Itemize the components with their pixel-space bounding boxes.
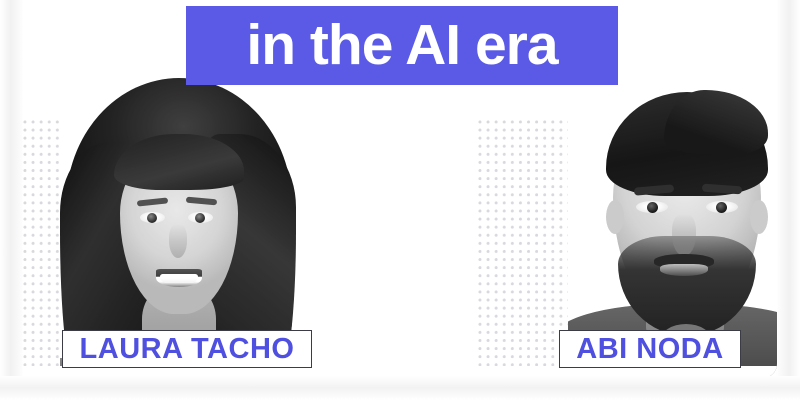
headline-text: in the AI era [246,17,557,74]
iris-right [195,213,205,223]
iris-left [147,213,157,223]
headline-banner: in the AI era [186,6,618,85]
teeth [160,274,198,283]
promo-graphic: in the AI era LAURA TACHO ABI NODA [0,0,800,400]
mouth [660,264,708,276]
nose [672,214,696,256]
iris-right [716,202,727,213]
speaker-nameplate-left: LAURA TACHO [62,330,312,368]
page-edge-shadow-bottom [0,376,800,400]
iris-left [647,202,658,213]
page-edge-shadow-right [776,0,800,400]
speaker-name-left: LAURA TACHO [80,335,295,364]
nose [169,224,187,258]
ear-left [606,200,624,234]
ear-right [750,200,768,234]
page-edge-shadow-left [0,0,24,400]
graphic-card: in the AI era LAURA TACHO ABI NODA [23,0,777,378]
speaker-nameplate-right: ABI NODA [559,330,741,368]
speaker-name-right: ABI NODA [576,335,723,364]
